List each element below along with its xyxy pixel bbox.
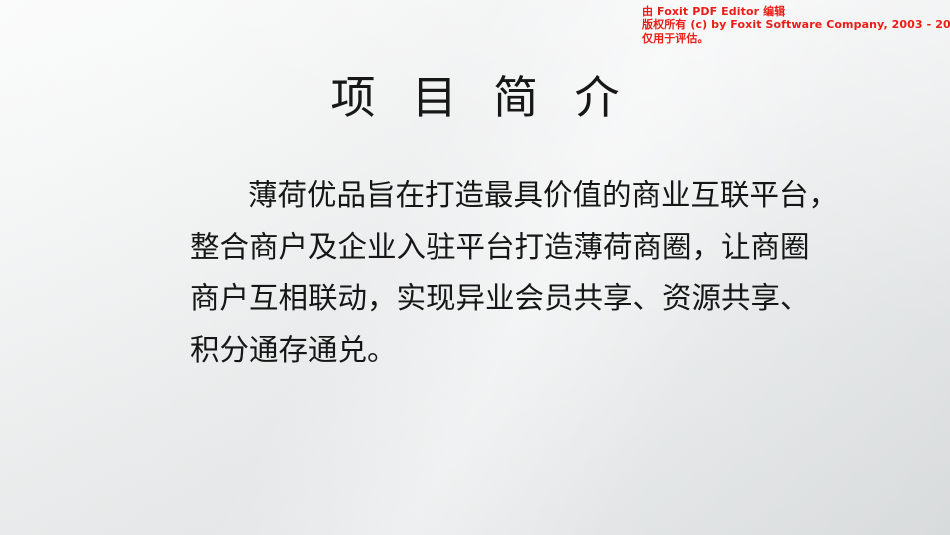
- watermark-line-evaluation: 仅用于评估。: [642, 32, 950, 45]
- watermark-line-copyright: 版权所有 (c) by Foxit Software Company, 2003…: [642, 18, 950, 31]
- body-line: 薄荷优品旨在打造最具价值的商业互联平台，: [190, 170, 830, 222]
- slide-body-text: 薄荷优品旨在打造最具价值的商业互联平台， 整合商户及企业入驻平台打造薄荷商圈，让…: [190, 170, 830, 376]
- body-line: 积分通存通兑。: [190, 325, 830, 377]
- body-line: 商户互相联动，实现异业会员共享、资源共享、: [190, 273, 830, 325]
- foxit-evaluation-watermark: 由 Foxit PDF Editor 编辑 版权所有 (c) by Foxit …: [642, 5, 950, 45]
- presentation-slide: 项 目 简 介 薄荷优品旨在打造最具价值的商业互联平台， 整合商户及企业入驻平台…: [0, 0, 950, 535]
- body-line: 整合商户及企业入驻平台打造薄荷商圈，让商圈: [190, 222, 830, 274]
- page-title: 项 目 简 介: [0, 68, 950, 128]
- watermark-line-editor: 由 Foxit PDF Editor 编辑: [642, 5, 950, 18]
